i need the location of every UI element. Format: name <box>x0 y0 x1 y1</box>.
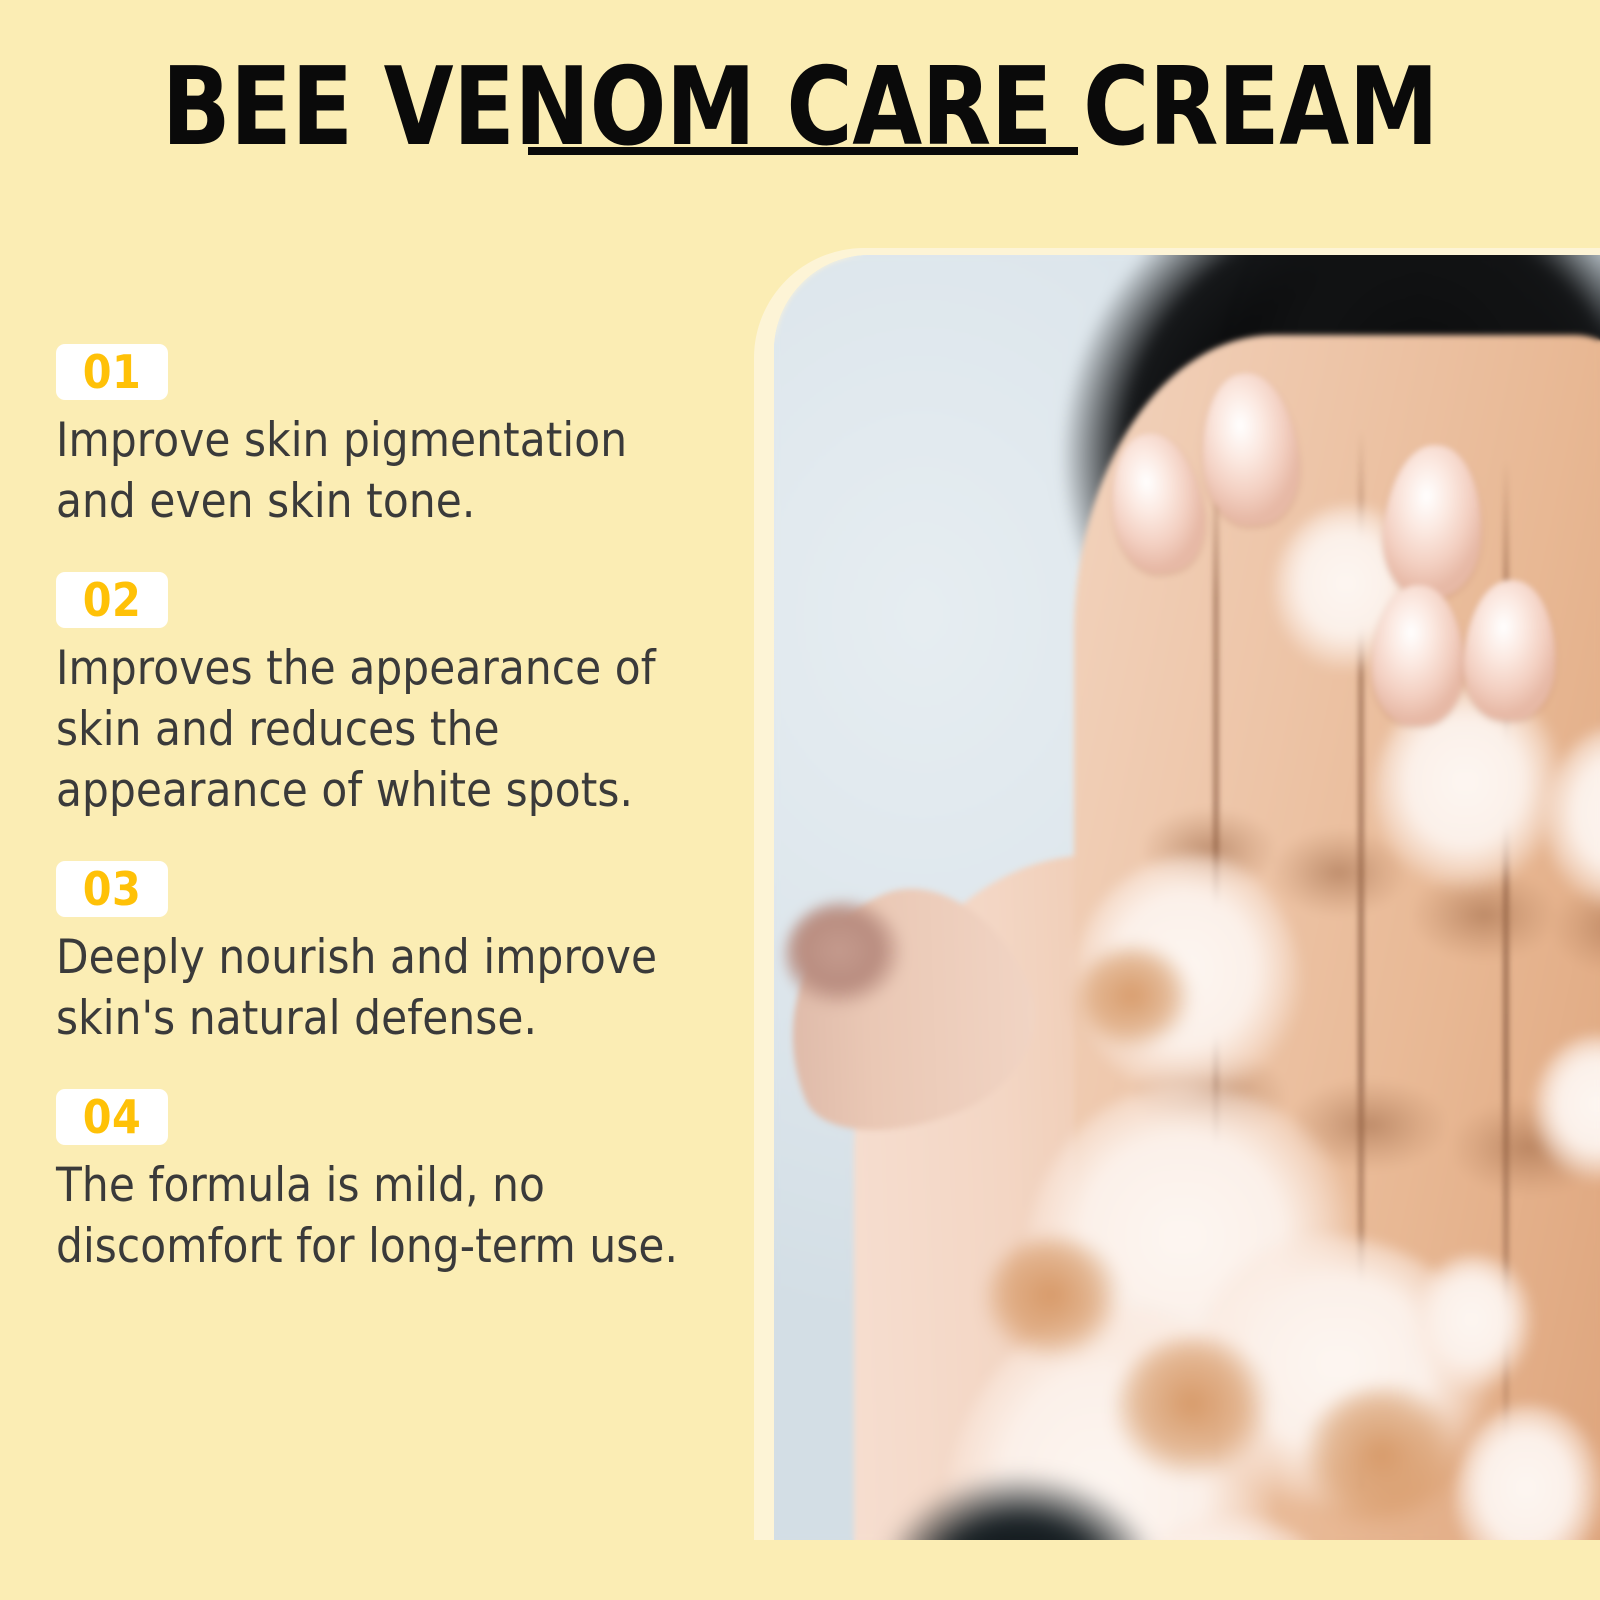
feature-number-badge-03: 03 <box>56 861 168 917</box>
page-title: BEE VENOM CARE CREAM <box>56 58 1544 158</box>
photo-left-thumb-tip <box>784 900 904 1010</box>
feature-text-02: Improves the appearance of skin and redu… <box>56 638 716 821</box>
feature-number-04: 04 <box>56 1089 168 1145</box>
feature-text-01: Improve skin pigmentation and even skin … <box>56 410 716 532</box>
product-photo <box>774 255 1600 1540</box>
feature-number-badge-04: 04 <box>56 1089 168 1145</box>
photo-shoulder <box>864 1435 1164 1540</box>
feature-text-03: Deeply nourish and improve skin's natura… <box>56 927 716 1049</box>
feature-item-03: 03 Deeply nourish and improve skin's nat… <box>56 861 716 1049</box>
feature-number-03: 03 <box>56 861 168 917</box>
feature-item-02: 02 Improves the appearance of skin and r… <box>56 572 716 821</box>
photo-pigmented-island-2 <box>984 1235 1124 1365</box>
photo-pigmented-island-3 <box>1304 1385 1464 1535</box>
feature-number-01: 01 <box>56 344 168 400</box>
photo-pigmented-island-4 <box>1074 945 1194 1055</box>
feature-list: 01 Improve skin pigmentation and even sk… <box>56 344 716 1277</box>
feature-number-02: 02 <box>56 572 168 628</box>
feature-item-04: 04 The formula is mild, no discomfort fo… <box>56 1089 716 1277</box>
feature-number-badge-02: 02 <box>56 572 168 628</box>
feature-item-01: 01 Improve skin pigmentation and even sk… <box>56 344 716 532</box>
title-underline <box>528 147 1078 155</box>
title-block: BEE VENOM CARE CREAM <box>0 58 1600 158</box>
photo-vitiligo-patch-11 <box>1414 1255 1534 1395</box>
feature-text-04: The formula is mild, no discomfort for l… <box>56 1155 716 1277</box>
feature-number-badge-01: 01 <box>56 344 168 400</box>
product-benefits-poster: BEE VENOM CARE CREAM 01 Improve skin pig… <box>0 0 1600 1600</box>
